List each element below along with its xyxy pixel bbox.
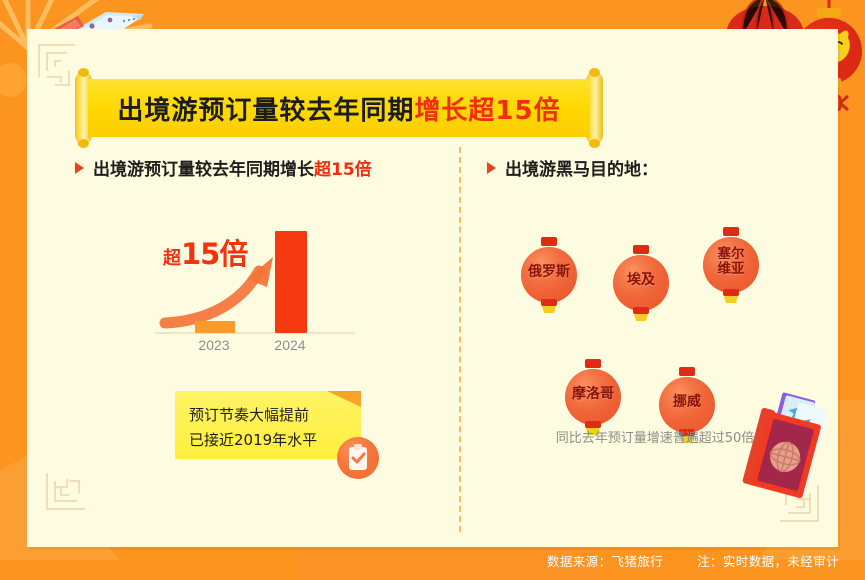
lantern-label: 俄罗斯 xyxy=(517,265,581,281)
lantern-destination-russia[interactable]: 俄罗斯 xyxy=(517,235,581,313)
x-tick-2023: 2023 xyxy=(189,337,239,353)
page-title: 出境游预订量较去年同期增长超15倍 xyxy=(117,90,560,127)
right-column: 出境游黑马目的地： 俄罗斯 xyxy=(487,155,837,180)
infographic-page: { "theme": { "bg_orange": "#FB9520", "ca… xyxy=(0,0,865,580)
lantern-group-note: 同比去年预订量增速普遍超过50倍 xyxy=(505,427,805,446)
title-banner: 出境游预订量较去年同期增长超15倍 xyxy=(75,72,603,144)
footer-disclaimer: 注：实时数据，未经审计 xyxy=(697,551,839,570)
x-tick-2024: 2024 xyxy=(265,337,315,353)
lantern-label-line: 俄罗斯 xyxy=(517,265,581,281)
passport-tickets-icon xyxy=(735,391,839,501)
footer-source: 数据来源：飞猪旅行 xyxy=(547,551,663,570)
callout-line-1: 预订节奏大幅提前 xyxy=(189,403,317,428)
lantern-destination-serbia[interactable]: 塞尔 维亚 xyxy=(699,225,763,303)
chart-annotation: 超15倍 xyxy=(163,231,247,273)
page-title-highlight: 增长超15倍 xyxy=(414,96,560,126)
lantern-label: 塞尔 维亚 xyxy=(699,247,763,277)
callout-line-2: 已接近2019年水平 xyxy=(189,428,317,453)
right-heading-text: 出境游黑马目的地： xyxy=(505,155,658,180)
lantern-label: 埃及 xyxy=(609,273,673,289)
banner-body: 出境游预订量较去年同期增长超15倍 xyxy=(88,79,590,137)
chart-annotation-prefix: 超 xyxy=(163,248,181,269)
lantern-label-line: 挪威 xyxy=(655,395,719,411)
bar-2024 xyxy=(275,231,307,333)
right-heading: 出境游黑马目的地： xyxy=(487,155,837,180)
chart-annotation-value: 15倍 xyxy=(181,237,247,271)
left-heading: 出境游预订量较去年同期增长超15倍 xyxy=(75,155,435,180)
clipboard-check-icon xyxy=(335,435,381,481)
left-heading-main: 出境游预订量较去年同期增长 xyxy=(93,160,314,180)
main-card: 出境游预订量较去年同期增长超15倍 出境游预订量较去年同期增长超15倍 超15倍… xyxy=(27,29,838,547)
left-heading-text: 出境游预订量较去年同期增长超15倍 xyxy=(93,155,372,180)
lantern-label-line: 塞尔 xyxy=(699,247,763,262)
left-heading-highlight: 超15倍 xyxy=(314,160,372,180)
lantern-label-line: 维亚 xyxy=(699,262,763,277)
footer: 数据来源：飞猪旅行 注：实时数据，未经审计 xyxy=(0,551,865,570)
lantern-destination-morocco[interactable]: 摩洛哥 xyxy=(561,357,625,435)
lantern-label-line: 摩洛哥 xyxy=(561,387,625,403)
page-title-main: 出境游预订量较去年同期 xyxy=(117,96,414,126)
triangle-bullet-icon xyxy=(75,162,84,174)
lantern-label-line: 埃及 xyxy=(609,273,673,289)
lantern-destination-egypt[interactable]: 埃及 xyxy=(609,243,673,321)
lantern-label: 摩洛哥 xyxy=(561,387,625,403)
callout-text: 预订节奏大幅提前 已接近2019年水平 xyxy=(189,403,317,453)
chinese-fret-corner-ornament xyxy=(39,467,97,525)
left-column: 出境游预订量较去年同期增长超15倍 xyxy=(75,155,435,180)
callout-card: 预订节奏大幅提前 已接近2019年水平 xyxy=(175,391,361,459)
lantern-label: 挪威 xyxy=(655,395,719,411)
bar-2023 xyxy=(195,321,235,333)
growth-bar-chart: 超15倍 2023 2024 xyxy=(155,217,355,372)
triangle-bullet-icon xyxy=(487,162,496,174)
column-divider xyxy=(459,147,461,532)
